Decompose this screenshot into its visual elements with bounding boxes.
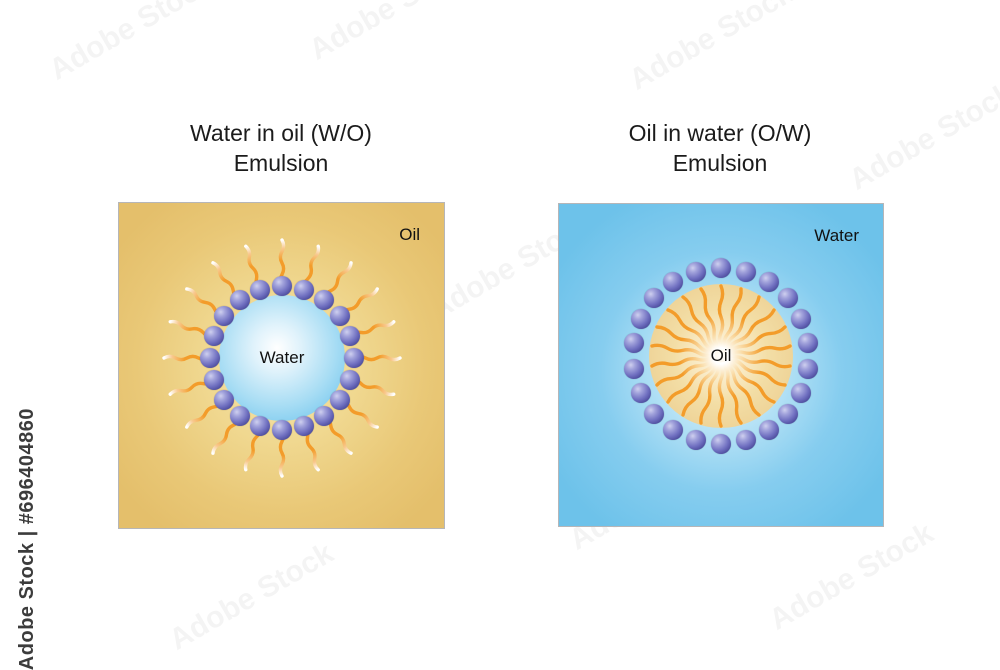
- stock-id-watermark: Adobe Stock | #696404860: [16, 408, 39, 670]
- panel-oil-in-water: Water Oil: [558, 203, 884, 527]
- watermark-tile: Adobe Stock: [624, 0, 800, 98]
- surfactant-head: [736, 262, 756, 282]
- surfactant-head: [778, 404, 798, 424]
- surfactant-head: [686, 262, 706, 282]
- dispersed-phase-label-water: Water: [260, 348, 305, 368]
- surfactant-head: [686, 430, 706, 450]
- surfactant-head: [644, 404, 664, 424]
- watermark-tile: Adobe Stock: [164, 536, 340, 657]
- dispersed-phase-label-oil: Oil: [711, 346, 732, 366]
- surfactant-head: [344, 348, 364, 368]
- surfactant-head: [631, 383, 651, 403]
- surfactant-head: [204, 370, 224, 390]
- surfactant-head: [214, 390, 234, 410]
- micelle-oil-in-water: Oil: [621, 256, 821, 456]
- continuous-phase-label-oil: Oil: [399, 225, 420, 245]
- surfactant-head: [314, 290, 334, 310]
- surfactant-head: [631, 309, 651, 329]
- surfactant-head: [272, 276, 292, 296]
- surfactant-head: [624, 333, 644, 353]
- surfactant-head: [214, 306, 234, 326]
- surfactant-head: [624, 359, 644, 379]
- surfactant-head: [798, 359, 818, 379]
- panel-water-in-oil: Oil Water: [118, 202, 445, 529]
- panel-title-water-in-oil: Water in oil (W/O) Emulsion: [118, 118, 444, 179]
- surfactant-head: [778, 288, 798, 308]
- oil-droplet-core: Oil: [649, 284, 793, 428]
- micelle-water-in-oil: Water: [171, 247, 393, 469]
- surfactant-head: [272, 420, 292, 440]
- continuous-phase-label-water: Water: [814, 226, 859, 246]
- surfactant-head: [663, 420, 683, 440]
- surfactant-head: [711, 258, 731, 278]
- surfactant-head: [330, 306, 350, 326]
- surfactant-head: [791, 309, 811, 329]
- watermark-tile: Adobe Stock: [304, 0, 480, 68]
- surfactant-head: [230, 406, 250, 426]
- water-droplet-core: Water: [219, 295, 345, 421]
- surfactant-head: [250, 280, 270, 300]
- surfactant-head: [200, 348, 220, 368]
- watermark-tile: Adobe Stock: [764, 516, 940, 637]
- surfactant-head: [230, 290, 250, 310]
- surfactant-head: [759, 420, 779, 440]
- diagram-canvas: Adobe Stock Adobe Stock Adobe Stock Adob…: [0, 0, 1000, 651]
- surfactant-head: [759, 272, 779, 292]
- surfactant-head: [294, 280, 314, 300]
- surfactant-head: [798, 333, 818, 353]
- surfactant-head: [791, 383, 811, 403]
- surfactant-head: [711, 434, 731, 454]
- watermark-tile: Adobe Stock: [44, 0, 220, 88]
- panel-title-oil-in-water: Oil in water (O/W) Emulsion: [558, 118, 882, 179]
- surfactant-head: [736, 430, 756, 450]
- surfactant-head: [204, 326, 224, 346]
